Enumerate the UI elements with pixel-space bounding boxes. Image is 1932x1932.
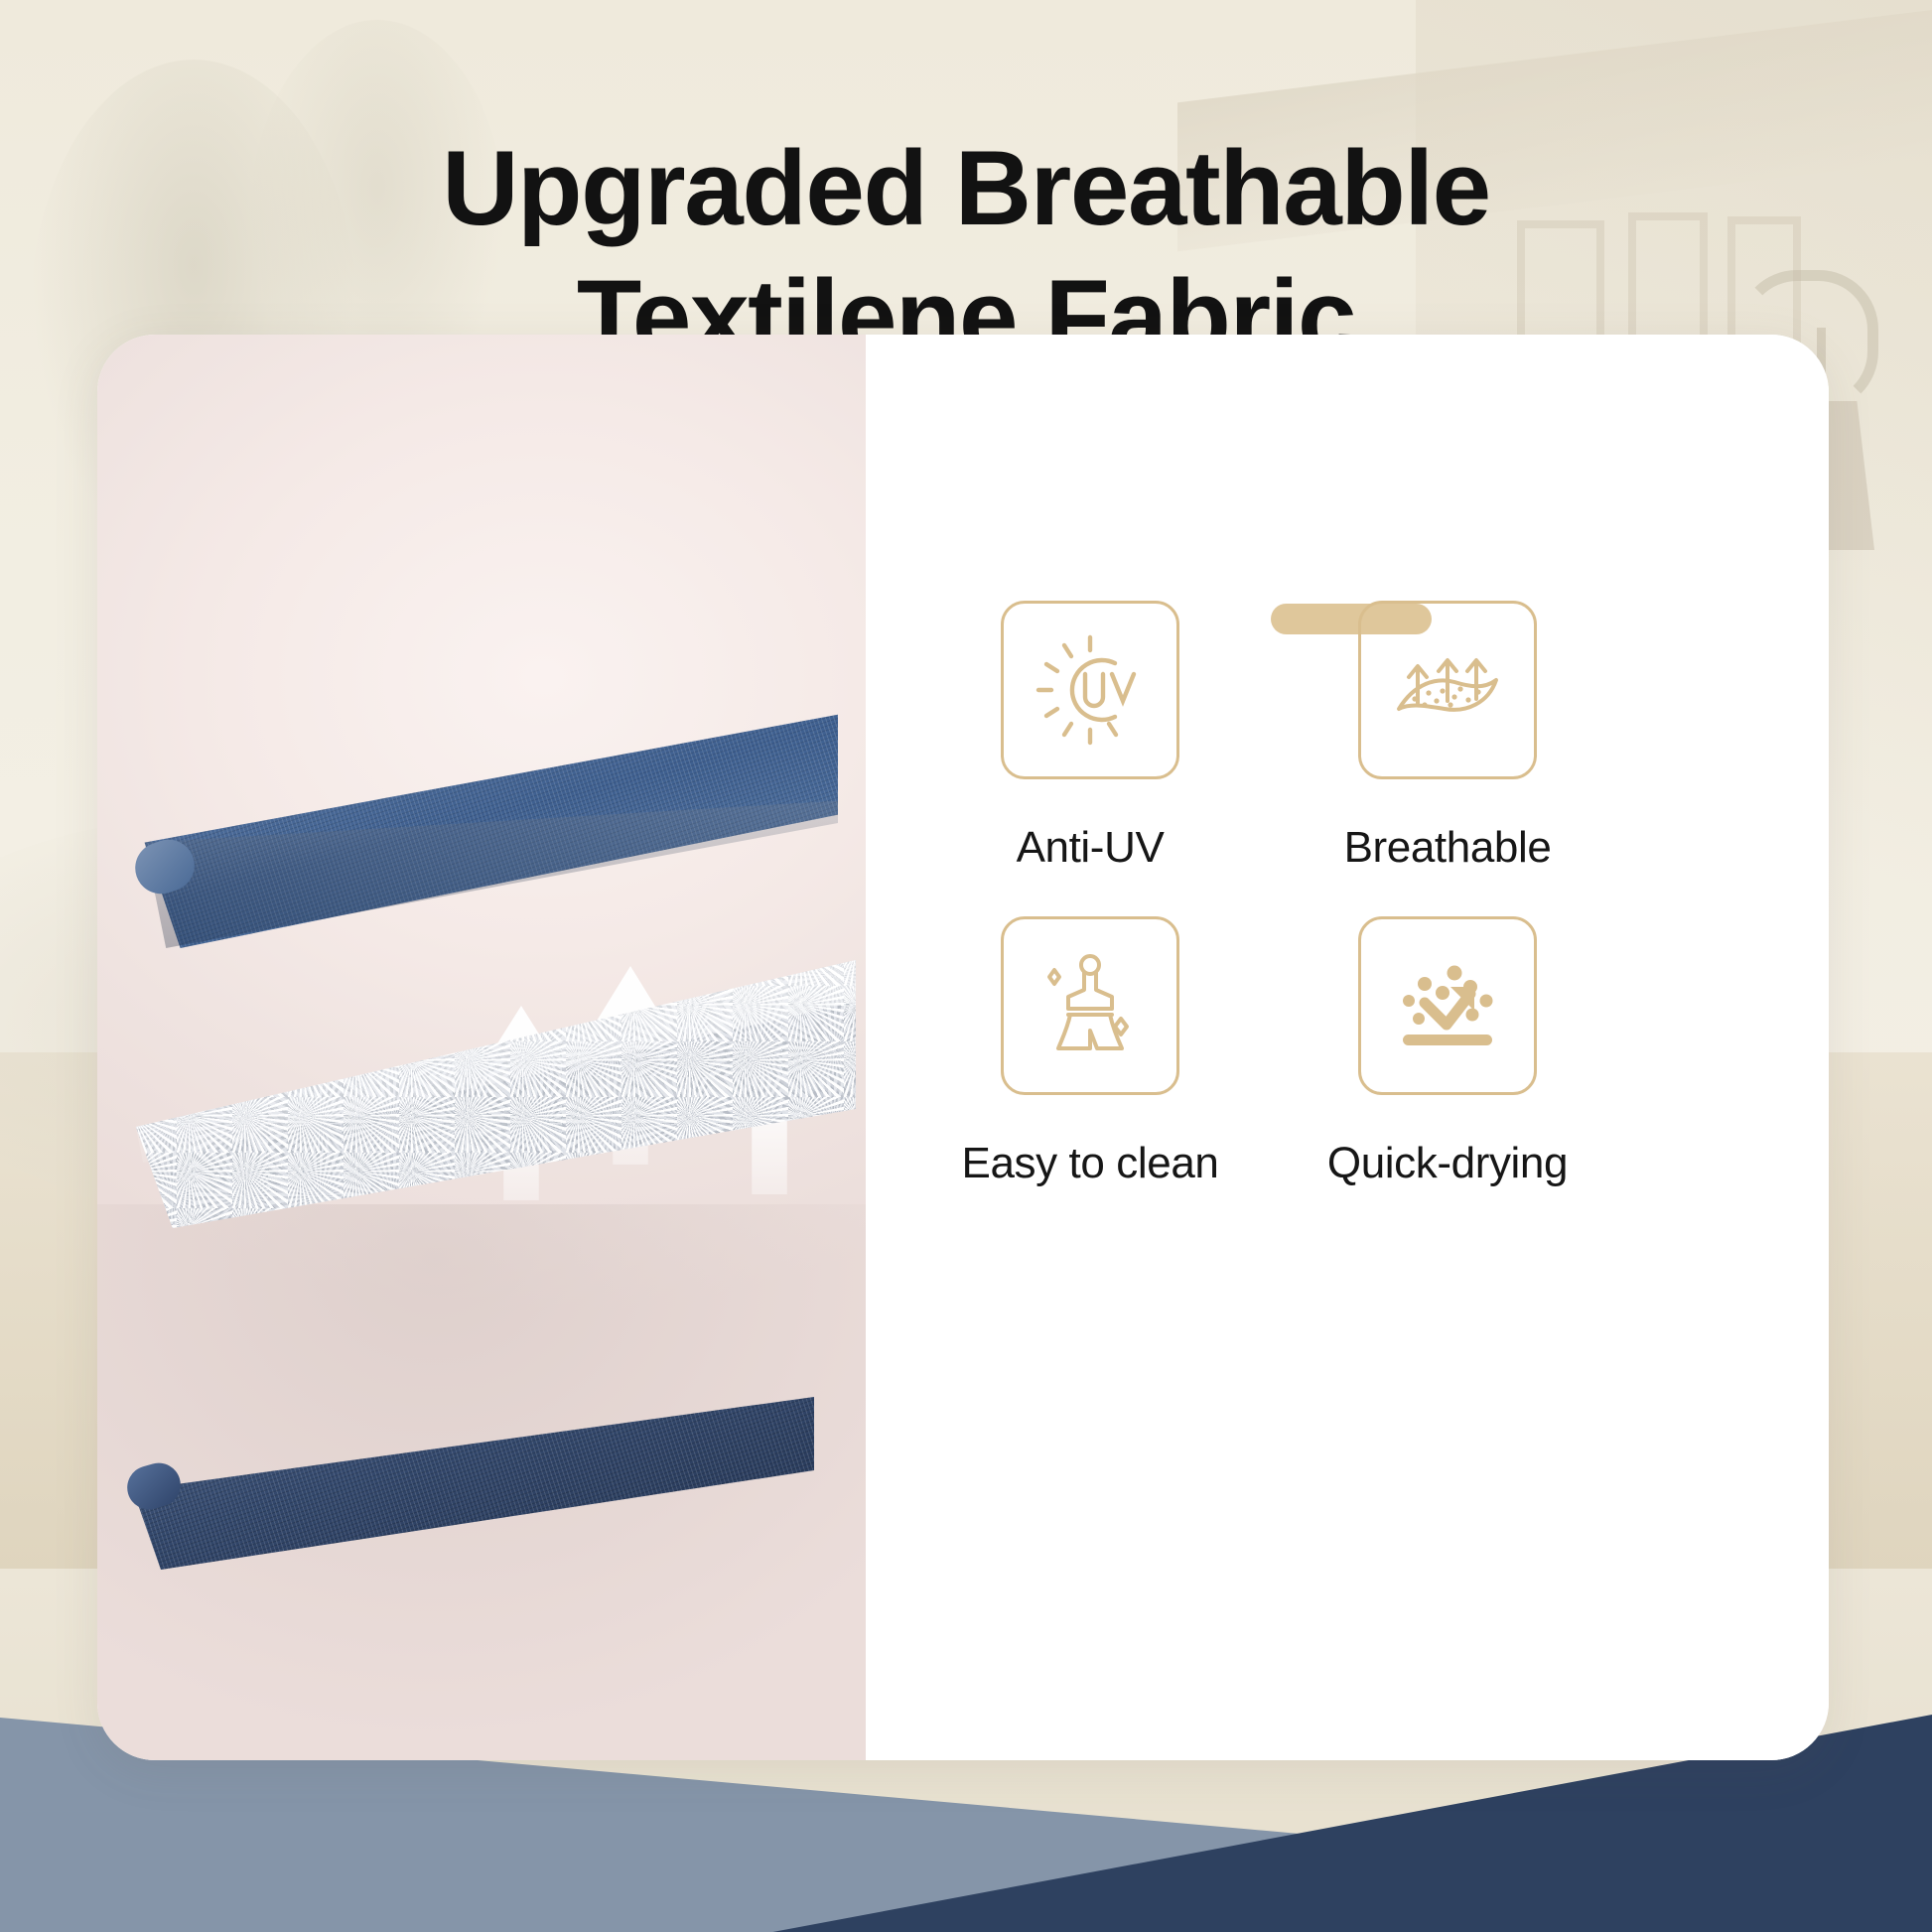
feature-item-breathable[interactable]: Breathable — [1269, 601, 1626, 873]
feature-label: Easy to clean — [911, 1139, 1269, 1188]
fabric-layers-photo — [97, 335, 866, 1760]
anti-uv-sun-icon — [1001, 601, 1179, 779]
breathable-fabric-icon — [1358, 601, 1537, 779]
feature-grid: Anti-UV — [866, 335, 1829, 1760]
middle-3d-mesh-fiber-layer — [121, 930, 856, 1228]
feature-label: Anti-UV — [911, 823, 1269, 873]
feature-card: Anti-UV — [97, 335, 1829, 1760]
quick-drying-water-icon — [1358, 916, 1537, 1095]
feature-item-anti-uv[interactable]: Anti-UV — [911, 601, 1269, 873]
top-textilene-fabric-layer — [123, 670, 838, 948]
feature-item-quick-drying[interactable]: Quick-drying — [1269, 916, 1626, 1188]
feature-label: Breathable — [1269, 823, 1626, 873]
title-line-1: Upgraded Breathable — [0, 123, 1932, 253]
easy-to-clean-brush-icon — [1001, 916, 1179, 1095]
feature-item-easy-to-clean[interactable]: Easy to clean — [911, 916, 1269, 1188]
feature-label: Quick-drying — [1269, 1139, 1626, 1188]
feature-icon-panel: Anti-UV — [866, 335, 1829, 1760]
bottom-textilene-fabric-layer — [119, 1387, 814, 1586]
